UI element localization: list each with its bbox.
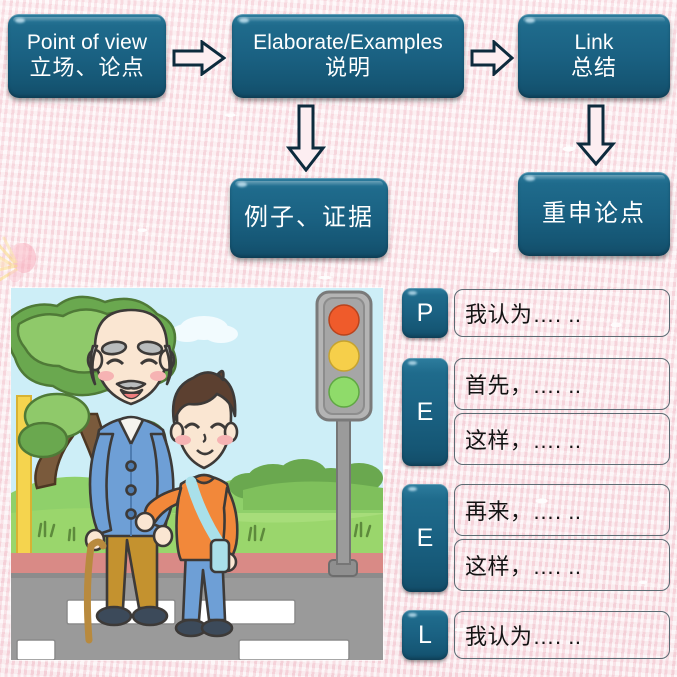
peel-letter-tile-e[interactable]: E <box>402 484 448 592</box>
arrow-right-icon <box>470 40 514 76</box>
peel-letter-tile-e[interactable]: E <box>402 358 448 466</box>
peel-sentence-slot[interactable]: 这样，…. .. <box>454 539 670 591</box>
flow-box-evidence[interactable]: 例子、证据 <box>230 178 388 258</box>
flow-box-title-en: Elaborate/Examples <box>253 31 443 55</box>
flow-box-point-of-view[interactable]: Point of view 立场、论点 <box>8 14 166 98</box>
peel-sentence-text: 我认为…. .. <box>465 297 581 329</box>
flow-box-title-en: Link <box>575 31 614 55</box>
peel-letter: P <box>417 299 434 328</box>
flow-box-elaborate-examples[interactable]: Elaborate/Examples 说明 <box>232 14 464 98</box>
peel-sentence-slot[interactable]: 我认为…. .. <box>454 611 670 659</box>
arrow-down-icon <box>286 104 326 172</box>
illustration-svg <box>11 288 383 660</box>
signal-green <box>329 377 359 407</box>
peel-letter-tile-p[interactable]: P <box>402 288 448 338</box>
arrow-right-icon <box>172 40 226 76</box>
flow-box-title-cn: 说明 <box>325 55 371 80</box>
signal-red <box>329 305 359 335</box>
flow-box-title-cn: 总结 <box>571 55 617 80</box>
peel-sentence-slot[interactable]: 这样，…. .. <box>454 413 670 465</box>
peel-sentence-text: 首先，…. .. <box>465 368 581 400</box>
signal-yellow <box>329 341 359 371</box>
peel-letter: E <box>417 398 434 427</box>
flow-box-title-cn: 重申论点 <box>542 200 646 227</box>
peel-sentence-text: 再来，…. .. <box>465 494 581 526</box>
peel-structure-list: P 我认为…. .. E 首先，…. .. 这样，…. .. E 再来，…. .… <box>402 286 670 670</box>
peel-sentence-text: 这样，…. .. <box>465 423 581 455</box>
flow-box-title-cn: 例子、证据 <box>244 204 374 231</box>
peel-sentence-text: 这样，…. .. <box>465 549 581 581</box>
peel-sentence-slot[interactable]: 我认为…. .. <box>454 289 670 337</box>
illustration-crosswalk-help <box>11 288 383 660</box>
flow-box-title-cn: 立场、论点 <box>29 55 144 80</box>
arrow-down-icon <box>576 104 616 166</box>
peel-letter: L <box>418 621 432 650</box>
flow-box-restate[interactable]: 重申论点 <box>518 172 670 256</box>
peel-letter-tile-l[interactable]: L <box>402 610 448 660</box>
peel-sentence-text: 我认为…. .. <box>465 619 581 651</box>
peel-sentence-slot[interactable]: 首先，…. .. <box>454 358 670 410</box>
peel-letter: E <box>417 524 434 553</box>
flow-box-title-en: Point of view <box>27 31 147 55</box>
peel-sentence-slot[interactable]: 再来，…. .. <box>454 484 670 536</box>
flow-box-link[interactable]: Link 总结 <box>518 14 670 98</box>
